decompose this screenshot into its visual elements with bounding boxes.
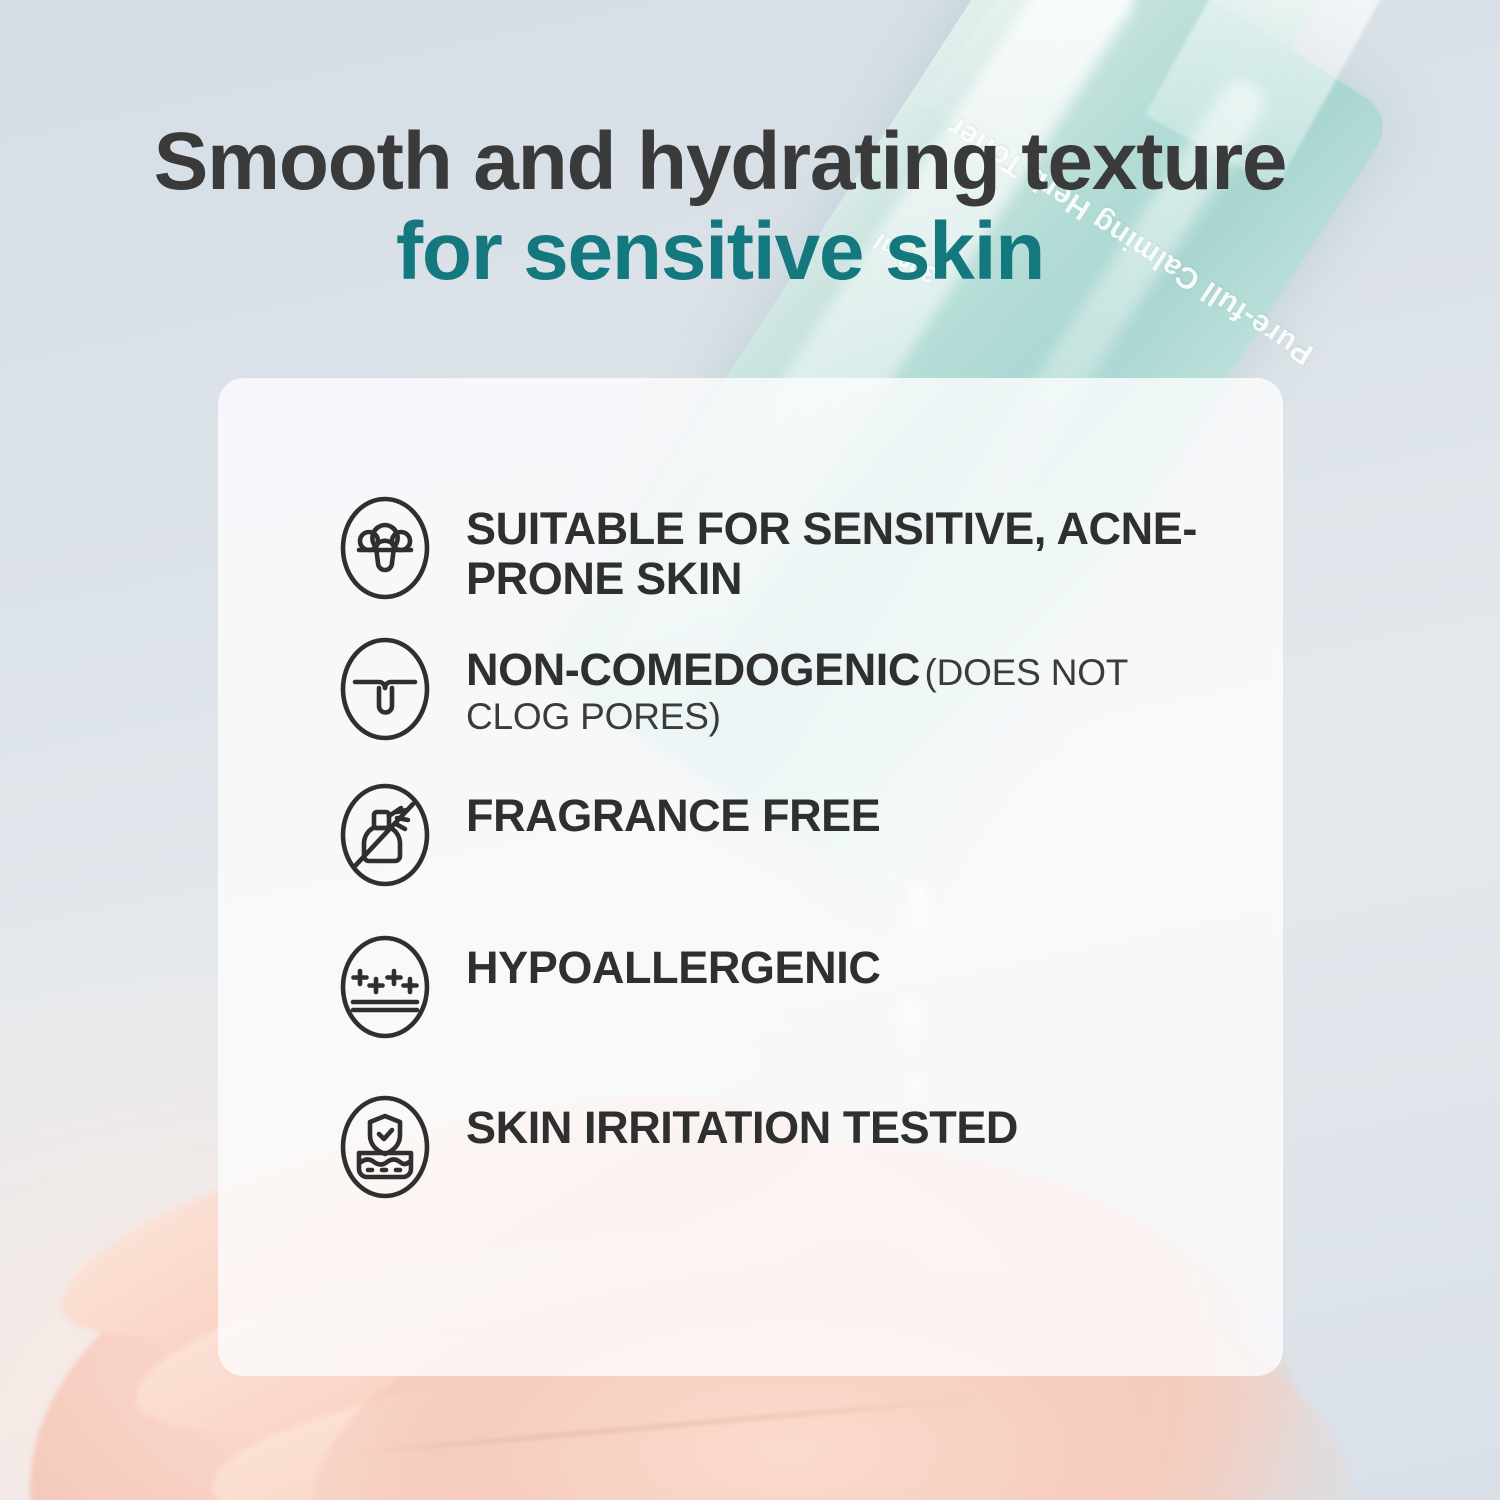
feature-text: SUITABLE FOR SENSITIVE, ACNE-PRONE SKIN bbox=[466, 492, 1216, 605]
headline-line-2: for sensitive skin bbox=[0, 210, 1440, 294]
headline-line-1: Smooth and hydrating texture bbox=[0, 120, 1440, 204]
feature-text: SKIN IRRITATION TESTED bbox=[466, 1091, 1018, 1153]
promo-image-stage: Pure-full Calming Herb Toner 300ml Smoot… bbox=[0, 0, 1500, 1500]
feature-item-fragrance-free: FRAGRANCE FREE bbox=[336, 779, 1216, 891]
feature-text: HYPOALLERGENIC bbox=[466, 931, 880, 993]
feature-item-non-comedogenic: NON-COMEDOGENIC (DOES NOT CLOG PORES) bbox=[336, 633, 1216, 745]
feature-item-hypoallergenic: HYPOALLERGENIC bbox=[336, 931, 1216, 1043]
feature-item-skin-irritation-tested: SKIN IRRITATION TESTED bbox=[336, 1091, 1216, 1203]
sparkle-skin-icon bbox=[336, 931, 434, 1043]
feature-list: SUITABLE FOR SENSITIVE, ACNE-PRONE SKIN … bbox=[336, 492, 1216, 1203]
shield-skin-icon bbox=[336, 1091, 434, 1203]
clear-pore-icon bbox=[336, 633, 434, 745]
feature-title: SKIN IRRITATION TESTED bbox=[466, 1102, 1018, 1153]
feature-text: FRAGRANCE FREE bbox=[466, 779, 880, 841]
feature-title: FRAGRANCE FREE bbox=[466, 790, 880, 841]
feature-item-sensitive-acne-prone: SUITABLE FOR SENSITIVE, ACNE-PRONE SKIN bbox=[336, 492, 1216, 605]
no-fragrance-icon bbox=[336, 779, 434, 891]
feature-text: NON-COMEDOGENIC (DOES NOT CLOG PORES) bbox=[466, 633, 1216, 739]
acne-prone-skin-icon bbox=[336, 492, 434, 604]
feature-title: SUITABLE FOR SENSITIVE, ACNE-PRONE SKIN bbox=[466, 503, 1197, 604]
feature-title: HYPOALLERGENIC bbox=[466, 942, 880, 993]
feature-title: NON-COMEDOGENIC bbox=[466, 644, 920, 695]
headline: Smooth and hydrating texture for sensiti… bbox=[0, 120, 1440, 293]
